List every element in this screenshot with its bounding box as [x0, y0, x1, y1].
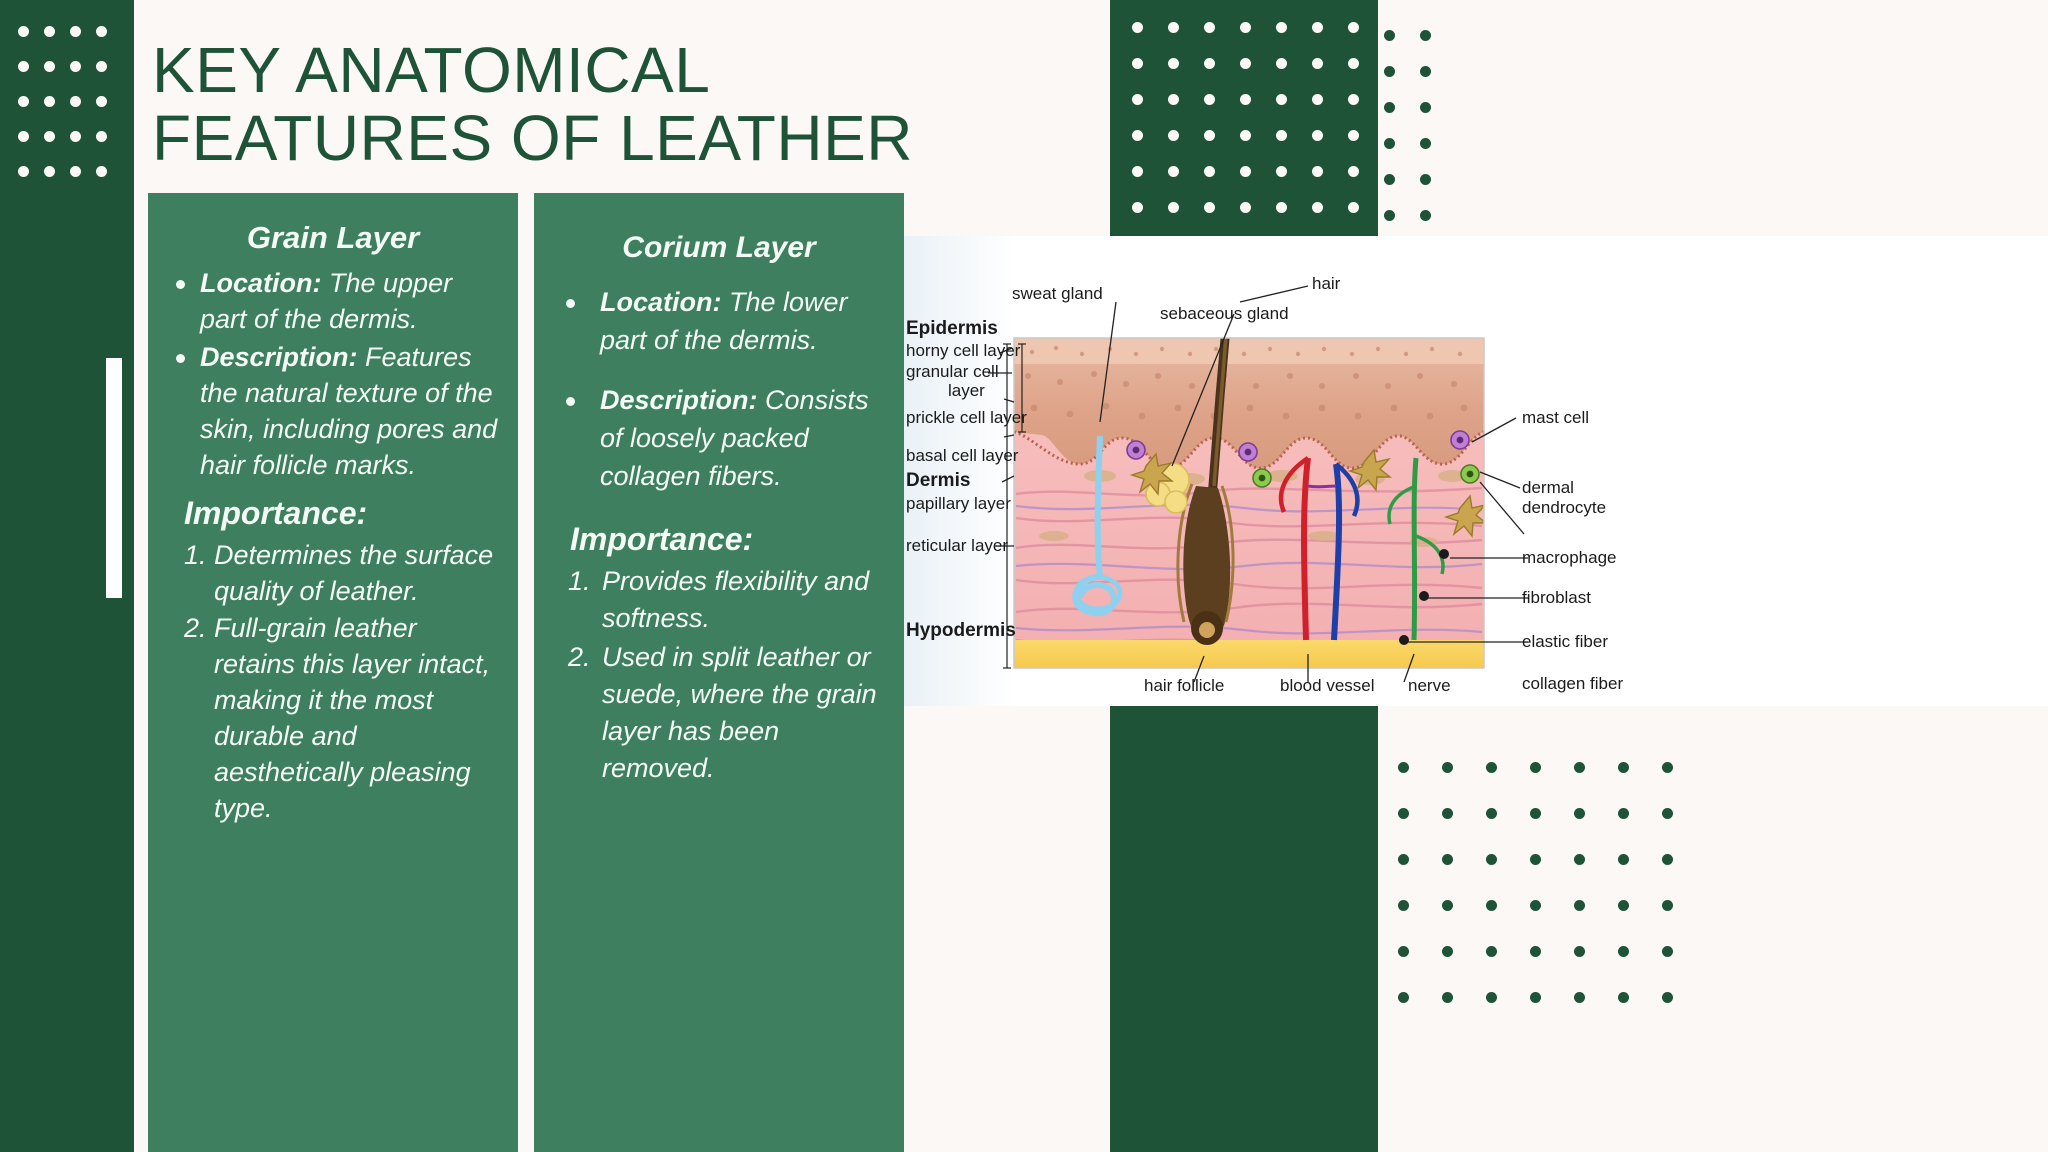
decorative-dot: [1132, 202, 1143, 213]
decorative-dot: [1530, 992, 1541, 1003]
decorative-dot: [1398, 992, 1409, 1003]
importance-heading: Importance:: [570, 517, 890, 561]
diagram-label-dermis: Dermis: [906, 470, 970, 492]
top-right-green-block: [1110, 0, 1378, 242]
decorative-dot: [1348, 166, 1359, 177]
decorative-dot: [1168, 94, 1179, 105]
decorative-dot: [1530, 946, 1541, 957]
bottom-right-dot-pattern: [1398, 762, 1728, 1152]
diagram-label-elastic-fiber: elastic fiber: [1522, 632, 1608, 652]
decorative-dot: [44, 26, 55, 37]
decorative-dot: [1574, 946, 1585, 957]
decorative-dot: [1662, 946, 1673, 957]
decorative-dot: [1276, 166, 1287, 177]
diagram-label-dermal-dendrocyte: dendrocyte: [1522, 498, 1606, 518]
white-accent-bar: [106, 358, 122, 598]
decorative-dot: [96, 166, 107, 177]
bottom-right-green-block: [1110, 692, 1378, 1152]
list-marker: 2.: [184, 610, 207, 646]
decorative-dot: [1204, 202, 1215, 213]
card-title: Corium Layer: [548, 229, 890, 267]
list-item: 2.Used in split leather or suede, where …: [548, 639, 890, 787]
decorative-dot: [1132, 22, 1143, 33]
card-corium-layer: Corium Layer Location: The lower part of…: [534, 193, 904, 1152]
decorative-dot: [44, 61, 55, 72]
diagram-label-sebaceous-gland: sebaceous gland: [1160, 304, 1289, 324]
decorative-dot: [44, 166, 55, 177]
decorative-dot: [1204, 22, 1215, 33]
decorative-dot: [1168, 166, 1179, 177]
decorative-dot: [1442, 762, 1453, 773]
diagram-label-blood-vessel: blood vessel: [1280, 676, 1375, 696]
decorative-dot: [1574, 992, 1585, 1003]
decorative-dot: [1618, 992, 1629, 1003]
decorative-dot: [1132, 94, 1143, 105]
decorative-dot: [1276, 58, 1287, 69]
numbered-list: 1.Provides flexibility and softness. 2.U…: [548, 563, 890, 787]
diagram-label-dermal: dermal: [1522, 478, 1574, 498]
decorative-dot: [70, 131, 81, 142]
importance-heading: Importance:: [184, 491, 504, 535]
decorative-dot: [1240, 130, 1251, 141]
decorative-dot: [1530, 900, 1541, 911]
decorative-dot: [1398, 808, 1409, 819]
decorative-dot: [1312, 202, 1323, 213]
list-item: 1.Determines the surface quality of leat…: [162, 537, 504, 609]
card-grain-layer: Grain Layer Location: The upper part of …: [148, 193, 518, 1152]
decorative-dot: [18, 61, 29, 72]
card-title: Grain Layer: [162, 219, 504, 257]
decorative-dot: [96, 61, 107, 72]
decorative-dot: [1132, 166, 1143, 177]
decorative-dot: [18, 131, 29, 142]
decorative-dot: [1132, 130, 1143, 141]
diagram-label-macrophage: macrophage: [1522, 548, 1617, 568]
diagram-label-granular-cell: granular cell: [906, 362, 999, 382]
decorative-dot: [1486, 808, 1497, 819]
decorative-dot: [1204, 58, 1215, 69]
diagram-label-collagen-fiber: collagen fiber: [1522, 674, 1623, 694]
list-item: Location: The upper part of the dermis.: [162, 265, 504, 337]
decorative-dot: [70, 166, 81, 177]
decorative-dot: [1662, 854, 1673, 865]
decorative-dot: [1348, 202, 1359, 213]
decorative-dot: [18, 26, 29, 37]
diagram-label-horny-cell-layer: horny cell layer: [906, 341, 1020, 361]
decorative-dot: [1168, 22, 1179, 33]
diagram-label-hypodermis: Hypodermis: [906, 620, 1016, 642]
decorative-dot: [1204, 166, 1215, 177]
decorative-dot: [70, 96, 81, 107]
decorative-dot: [70, 26, 81, 37]
decorative-dot: [1312, 22, 1323, 33]
decorative-dot: [1486, 854, 1497, 865]
decorative-dot: [1398, 854, 1409, 865]
decorative-dot: [1486, 992, 1497, 1003]
decorative-dot: [1276, 130, 1287, 141]
decorative-dot: [1618, 762, 1629, 773]
decorative-dot: [1442, 808, 1453, 819]
bullet-label: Location:: [200, 268, 322, 298]
list-text: Full-grain leather retains this layer in…: [214, 613, 490, 823]
bullet-list: Location: The lower part of the dermis. …: [548, 283, 890, 495]
decorative-dot: [1442, 992, 1453, 1003]
list-text: Used in split leather or suede, where th…: [602, 642, 877, 783]
decorative-dot: [1618, 900, 1629, 911]
decorative-dot: [1662, 992, 1673, 1003]
list-marker: 1.: [568, 563, 591, 600]
decorative-dot: [1530, 854, 1541, 865]
diagram-label-sweat-gland: sweat gland: [1012, 284, 1103, 304]
decorative-dot: [1384, 210, 1395, 221]
decorative-dot: [1662, 808, 1673, 819]
left-dot-pattern: [10, 18, 102, 190]
decorative-dot: [1618, 946, 1629, 957]
list-item: 2.Full-grain leather retains this layer …: [162, 610, 504, 826]
diagram-label-basal-cell-layer: basal cell layer: [906, 446, 1018, 466]
decorative-dot: [1398, 762, 1409, 773]
decorative-dot: [1132, 58, 1143, 69]
decorative-dot: [1312, 94, 1323, 105]
diagram-label-epidermis: Epidermis: [906, 318, 998, 340]
decorative-dot: [1420, 30, 1431, 41]
diagram-label-mast-cell: mast cell: [1522, 408, 1589, 428]
decorative-dot: [1276, 202, 1287, 213]
list-text: Provides flexibility and softness.: [602, 566, 869, 633]
numbered-list: 1.Determines the surface quality of leat…: [162, 537, 504, 826]
decorative-dot: [1168, 130, 1179, 141]
decorative-dot: [1662, 762, 1673, 773]
list-item: Location: The lower part of the dermis.: [548, 283, 890, 359]
decorative-dot: [1240, 58, 1251, 69]
decorative-dot: [1348, 94, 1359, 105]
decorative-dot: [1420, 66, 1431, 77]
decorative-dot: [18, 96, 29, 107]
diagram-label-nerve: nerve: [1408, 676, 1451, 696]
decorative-dot: [44, 131, 55, 142]
decorative-dot: [44, 96, 55, 107]
decorative-dot: [1348, 58, 1359, 69]
decorative-dot: [1420, 102, 1431, 113]
bullet-label: Location:: [600, 287, 722, 317]
list-item: Description: Features the natural textur…: [162, 339, 504, 483]
decorative-dot: [1384, 174, 1395, 185]
decorative-dot: [1312, 166, 1323, 177]
decorative-dot: [1384, 138, 1395, 149]
list-marker: 1.: [184, 537, 207, 573]
diagram-label-hair-follicle: hair follicle: [1144, 676, 1224, 696]
decorative-dot: [1312, 58, 1323, 69]
decorative-dot: [96, 131, 107, 142]
decorative-dot: [1348, 22, 1359, 33]
decorative-dot: [1240, 166, 1251, 177]
bullet-label: Description:: [200, 342, 358, 372]
decorative-dot: [1486, 946, 1497, 957]
decorative-dot: [1530, 808, 1541, 819]
list-item: Description: Consists of loosely packed …: [548, 381, 890, 495]
decorative-dot: [1384, 30, 1395, 41]
bullet-label: Description:: [600, 385, 758, 415]
decorative-dot: [1398, 946, 1409, 957]
decorative-dot: [1276, 94, 1287, 105]
decorative-dot: [1276, 22, 1287, 33]
decorative-dot: [1662, 900, 1673, 911]
decorative-dot: [18, 166, 29, 177]
list-item: 1.Provides flexibility and softness.: [548, 563, 890, 637]
decorative-dot: [1398, 900, 1409, 911]
diagram-illustration: [904, 236, 2048, 706]
decorative-dot: [1574, 900, 1585, 911]
decorative-dot: [70, 61, 81, 72]
decorative-dot: [1442, 900, 1453, 911]
decorative-dot: [1348, 130, 1359, 141]
decorative-dot: [1240, 94, 1251, 105]
decorative-dot: [1442, 946, 1453, 957]
decorative-dot: [96, 26, 107, 37]
decorative-dot: [1240, 22, 1251, 33]
decorative-dot: [1574, 854, 1585, 865]
decorative-dot: [1574, 762, 1585, 773]
decorative-dot: [1168, 202, 1179, 213]
diagram-label-prickle-cell-layer: prickle cell layer: [906, 408, 1027, 428]
decorative-dot: [1384, 102, 1395, 113]
skin-cross-section-diagram: Epidermis horny cell layer granular cell…: [904, 236, 2048, 706]
diagram-label-granular-layer: layer: [948, 381, 985, 401]
diagram-label-fibroblast: fibroblast: [1522, 588, 1591, 608]
decorative-dot: [1420, 174, 1431, 185]
page-title: KEY ANATOMICAL FEATURES OF LEATHER: [152, 36, 1052, 172]
decorative-dot: [96, 96, 107, 107]
decorative-dot: [1618, 854, 1629, 865]
decorative-dot: [1442, 854, 1453, 865]
decorative-dot: [1486, 762, 1497, 773]
decorative-dot: [1574, 808, 1585, 819]
diagram-label-hair: hair: [1312, 274, 1340, 294]
diagram-label-reticular-layer: reticular layer: [906, 536, 1008, 556]
list-text: Determines the surface quality of leathe…: [214, 540, 493, 606]
list-marker: 2.: [568, 639, 591, 676]
bullet-list: Location: The upper part of the dermis. …: [162, 265, 504, 483]
slide-root: KEY ANATOMICAL FEATURES OF LEATHER Grain…: [0, 0, 2048, 1152]
decorative-dot: [1240, 202, 1251, 213]
decorative-dot: [1384, 66, 1395, 77]
decorative-dot: [1168, 58, 1179, 69]
decorative-dot: [1204, 94, 1215, 105]
decorative-dot: [1530, 762, 1541, 773]
diagram-label-papillary-layer: papillary layer: [906, 494, 1011, 514]
decorative-dot: [1204, 130, 1215, 141]
decorative-dot: [1420, 210, 1431, 221]
decorative-dot: [1420, 138, 1431, 149]
decorative-dot: [1618, 808, 1629, 819]
decorative-dot: [1486, 900, 1497, 911]
decorative-dot: [1312, 130, 1323, 141]
